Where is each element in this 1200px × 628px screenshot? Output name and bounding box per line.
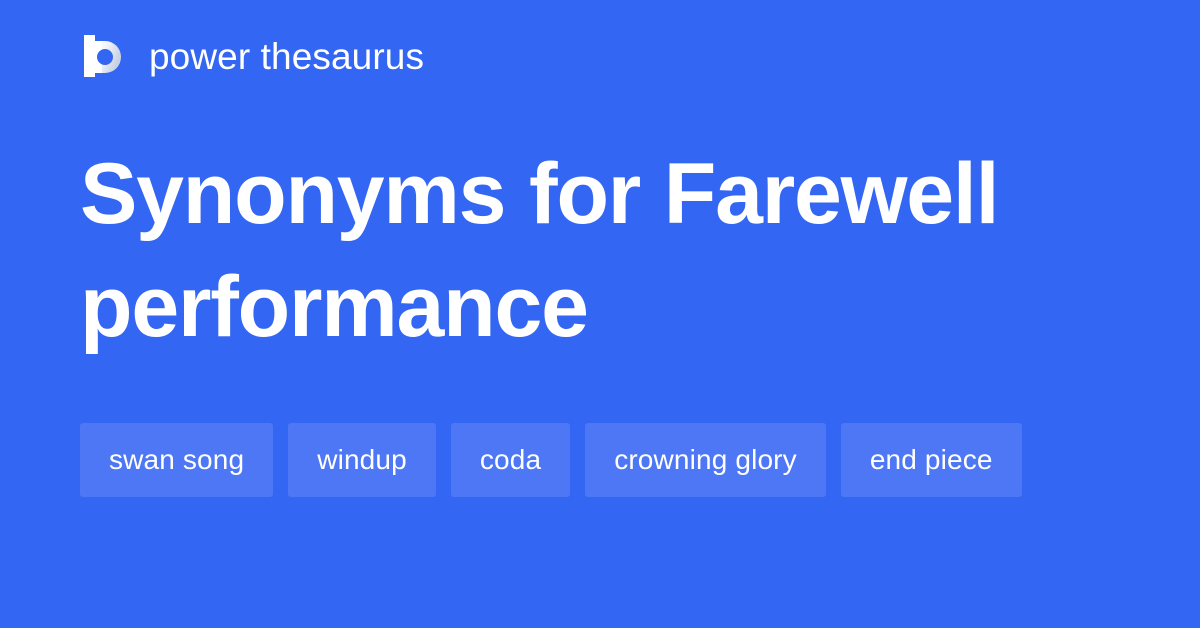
synonym-chip[interactable]: end piece: [841, 423, 1022, 497]
synonym-chip[interactable]: windup: [288, 423, 436, 497]
power-thesaurus-logo-icon: [80, 32, 128, 80]
page-title: Synonyms for Farewell performance: [80, 138, 1040, 364]
synonym-chip-list: swan song windup coda crowning glory end…: [80, 423, 1120, 497]
brand-lockup[interactable]: power thesaurus: [80, 28, 424, 84]
og-card: power thesaurus Synonyms for Farewell pe…: [0, 0, 1200, 628]
synonym-chip[interactable]: coda: [451, 423, 570, 497]
synonym-chip[interactable]: swan song: [80, 423, 273, 497]
synonym-chip[interactable]: crowning glory: [585, 423, 826, 497]
brand-name: power thesaurus: [149, 38, 424, 75]
